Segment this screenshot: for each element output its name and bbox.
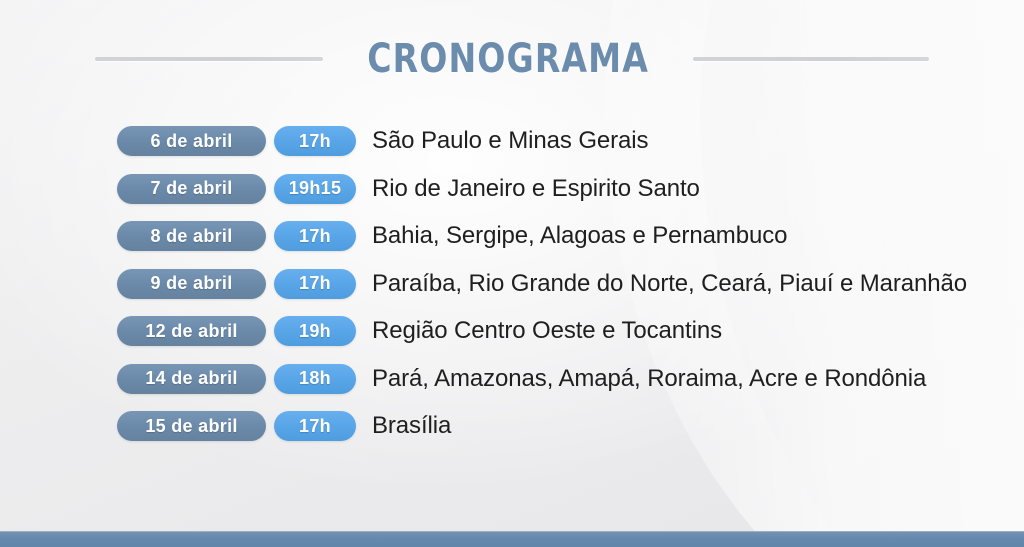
time-badge: 17h xyxy=(274,126,356,156)
bottom-accent-bar xyxy=(0,531,1024,547)
date-badge: 14 de abril xyxy=(117,364,266,394)
slide-canvas: CRONOGRAMA 6 de abril 17h São Paulo e Mi… xyxy=(0,0,1024,547)
region-label: Brasília xyxy=(372,414,451,438)
time-badge: 18h xyxy=(274,364,356,394)
date-badge: 6 de abril xyxy=(117,126,266,156)
schedule-row: 9 de abril 17h Paraíba, Rio Grande do No… xyxy=(117,267,1007,301)
schedule-list: 6 de abril 17h São Paulo e Minas Gerais … xyxy=(117,124,1007,457)
date-badge: 8 de abril xyxy=(117,221,266,251)
date-badge: 15 de abril xyxy=(117,411,266,441)
schedule-row: 15 de abril 17h Brasília xyxy=(117,409,1007,443)
page-title: CRONOGRAMA xyxy=(367,36,649,82)
region-label: Região Centro Oeste e Tocantins xyxy=(372,319,722,343)
title-row: CRONOGRAMA xyxy=(0,36,1024,82)
time-badge: 19h15 xyxy=(274,174,356,204)
schedule-row: 6 de abril 17h São Paulo e Minas Gerais xyxy=(117,124,1007,158)
date-badge: 12 de abril xyxy=(117,316,266,346)
region-label: São Paulo e Minas Gerais xyxy=(372,129,648,153)
schedule-row: 8 de abril 17h Bahia, Sergipe, Alagoas e… xyxy=(117,219,1007,253)
date-badge: 7 de abril xyxy=(117,174,266,204)
schedule-row: 7 de abril 19h15 Rio de Janeiro e Espiri… xyxy=(117,172,1007,206)
divider-line-left xyxy=(95,57,323,61)
region-label: Pará, Amazonas, Amapá, Roraima, Acre e R… xyxy=(372,367,926,391)
region-label: Bahia, Sergipe, Alagoas e Pernambuco xyxy=(372,224,787,248)
time-badge: 17h xyxy=(274,411,356,441)
time-badge: 19h xyxy=(274,316,356,346)
time-badge: 17h xyxy=(274,269,356,299)
schedule-row: 14 de abril 18h Pará, Amazonas, Amapá, R… xyxy=(117,362,1007,396)
region-label: Paraíba, Rio Grande do Norte, Ceará, Pia… xyxy=(372,272,967,296)
region-label: Rio de Janeiro e Espirito Santo xyxy=(372,177,700,201)
date-badge: 9 de abril xyxy=(117,269,266,299)
time-badge: 17h xyxy=(274,221,356,251)
divider-line-right xyxy=(693,57,929,61)
schedule-row: 12 de abril 19h Região Centro Oeste e To… xyxy=(117,314,1007,348)
